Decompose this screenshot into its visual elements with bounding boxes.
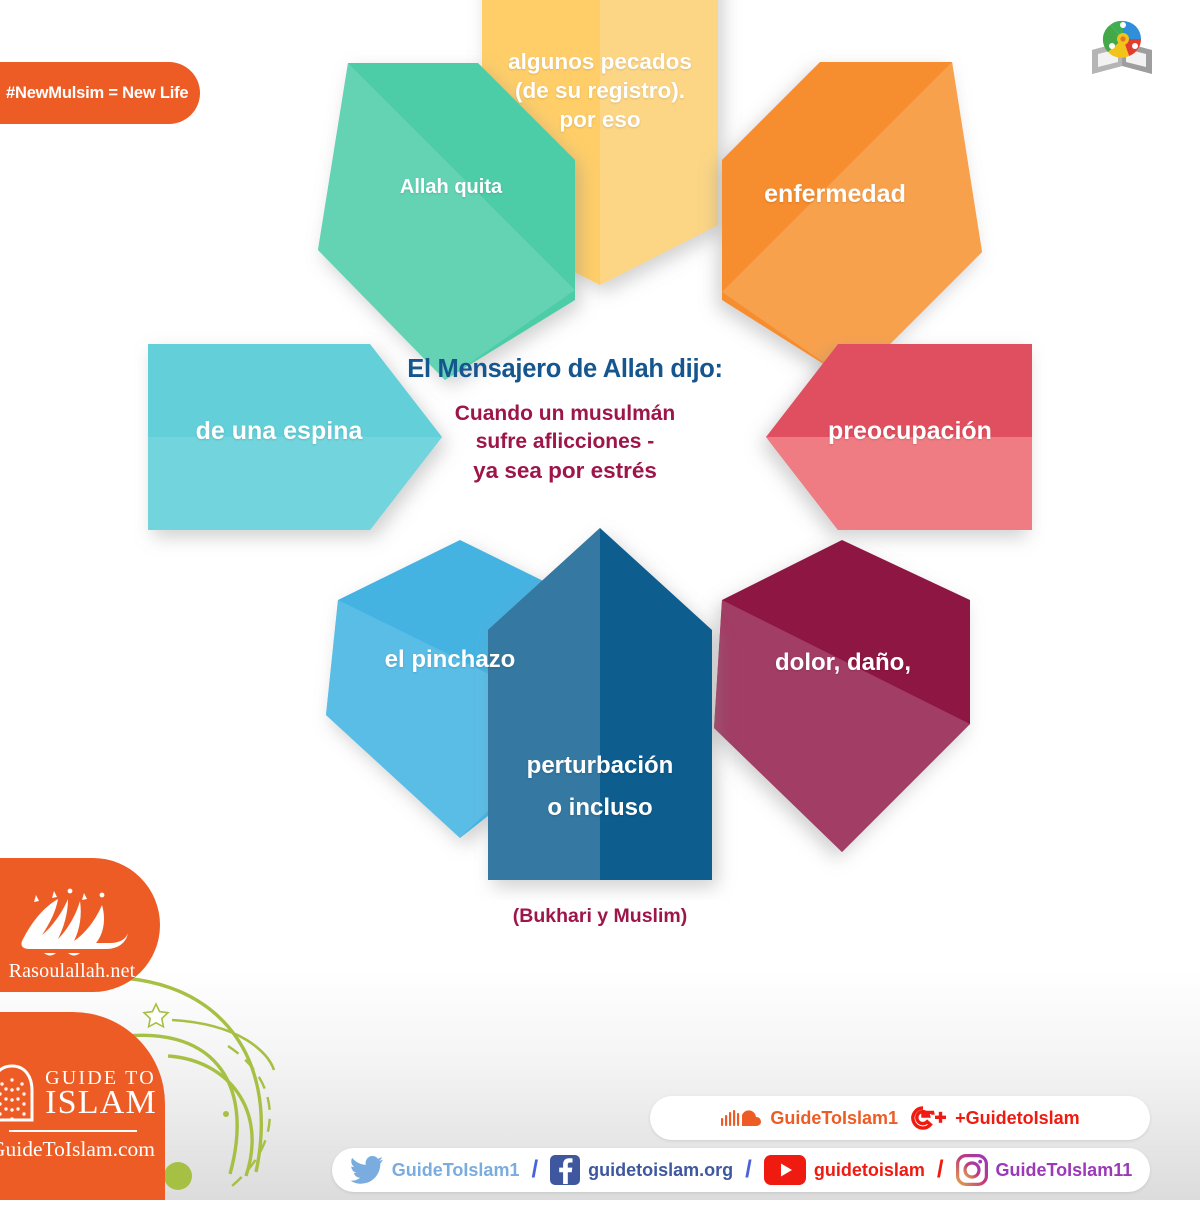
center-line-2: sufre aflicciones - [355,428,775,456]
youtube-label: guidetoislam [814,1160,925,1181]
facebook-icon [550,1155,580,1185]
social-pill-bottom: GuideToIslam1 / guidetoislam.org / guide… [332,1148,1150,1192]
center-body: Cuando un musulmán sufre aflicciones - y… [355,400,775,486]
segment-top-right [722,62,982,382]
social-soundcloud[interactable]: GuideToIslam1 [720,1106,898,1130]
arabic-calligraphy-icon [10,885,134,959]
guide-domain: GuideToIslam.com [0,1137,155,1162]
hashtag-badge: #NewMulsim = New Life [0,62,200,124]
facebook-label: guidetoislam.org [588,1160,733,1181]
guide-wordmark: GUIDE TO ISLAM [45,1068,157,1120]
instagram-icon [956,1154,988,1186]
guide-divider [9,1130,137,1132]
guide-line-2: ISLAM [45,1086,157,1120]
source-attribution: (Bukhari y Muslim) [0,905,1200,928]
rasoulallah-badge: Rasoulallah.net [0,858,160,992]
mosque-arch-icon [0,1064,36,1124]
googleplus-label: +GuidetoIslam [955,1108,1080,1129]
center-title: El Mensajero de Allah dijo: [355,355,775,384]
center-line-1: Cuando un musulmán [355,400,775,428]
center-line-3: ya sea por estrés [355,456,775,486]
social-twitter[interactable]: GuideToIslam1 [350,1156,520,1184]
separator-2: / [745,1156,752,1184]
youtube-icon [764,1155,806,1185]
separator-3: / [937,1156,944,1184]
infographic-canvas: #NewMulsim = New Life [0,0,1200,1200]
soundcloud-icon [720,1106,762,1130]
social-pill-top: GuideToIslam1 +GuidetoIslam [650,1096,1150,1140]
separator-1: / [531,1156,538,1184]
instagram-label: GuideToIslam11 [996,1160,1133,1181]
globe-book-icon [1088,16,1158,82]
rasoulallah-domain: Rasoulallah.net [9,960,136,983]
google-plus-icon [911,1105,947,1131]
center-text-block: El Mensajero de Allah dijo: Cuando un mu… [355,355,775,486]
social-googleplus[interactable]: +GuidetoIslam [911,1105,1080,1131]
social-youtube[interactable]: guidetoislam [764,1155,925,1185]
guide-lockup: GUIDE TO ISLAM [0,1064,157,1124]
soundcloud-label: GuideToIslam1 [770,1108,898,1129]
segment-right [766,344,1032,530]
segment-bottom-right [714,540,970,852]
twitter-label: GuideToIslam1 [392,1160,520,1181]
social-instagram[interactable]: GuideToIslam11 [956,1154,1133,1186]
twitter-icon [350,1156,384,1184]
hashtag-label: #NewMulsim = New Life [6,84,188,103]
social-facebook[interactable]: guidetoislam.org [550,1155,733,1185]
